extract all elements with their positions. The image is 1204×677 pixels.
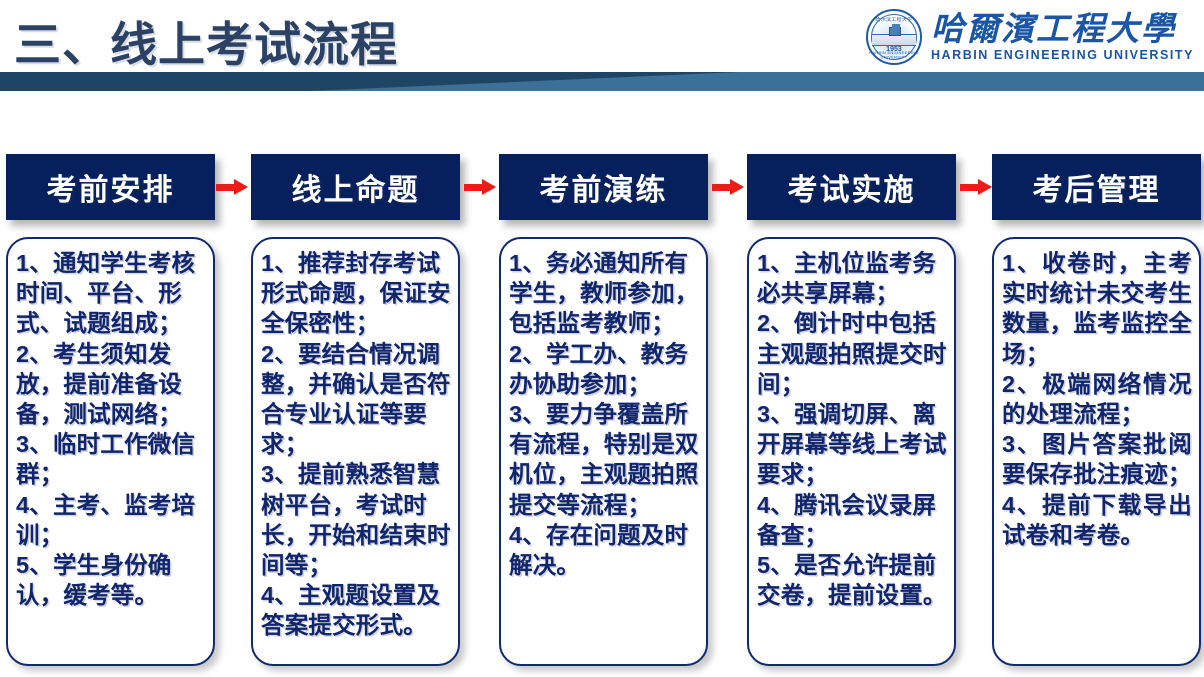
flow-step-4: 考试实施 1、主机位监考务必共享屏幕； 2、倒计时中包括主观题拍照提交时间； 3…: [747, 154, 956, 666]
flow-step-1-header[interactable]: 考前安排: [6, 154, 215, 220]
flow-step-1-header-label: 考前安排: [47, 165, 175, 209]
flow-step-1-body: 1、通知学生考核时间、平台、形式、试题组成； 2、考生须知发放，提前准备设备，测…: [6, 237, 215, 666]
flow-arrow-2-to-3: [464, 179, 496, 195]
flow-step-4-header[interactable]: 考试实施: [747, 154, 956, 220]
flow-arrow-3-to-4: [712, 179, 744, 195]
flow-step-5-body-text: 1、收卷时，主考实时统计未交考生数量，监考监控全场； 2、极端网络情况的处理流程…: [1002, 248, 1192, 550]
flow-step-5-body: 1、收卷时，主考实时统计未交考生数量，监考监控全场； 2、极端网络情况的处理流程…: [992, 237, 1201, 666]
university-name-cn: 哈爾濱工程大學: [931, 12, 1176, 47]
flow-step-3-header-label: 考前演练: [540, 165, 668, 209]
flow-step-2-body: 1、推荐封存考试形式命题，保证安全保密性； 2、要结合情况调整，并确认是否符合专…: [251, 237, 460, 666]
flow-step-2-header-label: 线上命题: [292, 165, 420, 209]
banner-wedge: [0, 72, 740, 91]
flow-step-5-header[interactable]: 考后管理: [992, 154, 1201, 220]
arrow-head: [730, 179, 744, 195]
university-logo: 哈尔滨工程大学 1953 HARBIN ENGINEERING UNIVERSI…: [866, 4, 1194, 70]
university-name-en: HARBIN ENGINEERING UNIVERSITY: [931, 48, 1194, 62]
arrow-shaft: [216, 184, 236, 191]
flow-step-5: 考后管理 1、收卷时，主考实时统计未交考生数量，监考监控全场； 2、极端网络情况…: [992, 154, 1201, 666]
flow-step-4-body-text: 1、主机位监考务必共享屏幕； 2、倒计时中包括主观题拍照提交时间； 3、强调切屏…: [757, 248, 947, 610]
flow-step-2-body-text: 1、推荐封存考试形式命题，保证安全保密性； 2、要结合情况调整，并确认是否符合专…: [261, 248, 451, 640]
arrow-shaft: [960, 184, 980, 191]
process-flow: 考前安排 1、通知学生考核时间、平台、形式、试题组成； 2、考生须知发放，提前准…: [0, 154, 1204, 666]
flow-arrow-4-to-5: [960, 179, 992, 195]
flow-step-4-header-label: 考试实施: [788, 165, 916, 209]
flow-step-3: 考前演练 1、务必通知所有学生，教师参加，包括监考教师； 2、学工办、教务办协助…: [499, 154, 708, 666]
header-banner: [0, 72, 1204, 91]
flow-arrow-1-to-2: [216, 179, 248, 195]
flow-step-5-header-label: 考后管理: [1033, 165, 1161, 209]
university-seal-icon: 哈尔滨工程大学 1953 HARBIN ENGINEERING UNIVERSI…: [866, 9, 922, 65]
flow-step-1-body-text: 1、通知学生考核时间、平台、形式、试题组成； 2、考生须知发放，提前准备设备，测…: [16, 248, 206, 610]
arrow-head: [234, 179, 248, 195]
flow-step-1: 考前安排 1、通知学生考核时间、平台、形式、试题组成； 2、考生须知发放，提前准…: [6, 154, 215, 666]
seal-top-text: 哈尔滨工程大学: [866, 16, 922, 22]
flow-step-2-header[interactable]: 线上命题: [251, 154, 460, 220]
flow-step-3-body: 1、务必通知所有学生，教师参加，包括监考教师； 2、学工办、教务办协助参加； 3…: [499, 237, 708, 666]
seal-bottom-text: HARBIN ENGINEERING UNIVERSITY: [866, 51, 922, 60]
flow-step-3-header[interactable]: 考前演练: [499, 154, 708, 220]
arrow-head: [978, 179, 992, 195]
arrow-shaft: [712, 184, 732, 191]
seal-ship-icon: [889, 27, 901, 36]
arrow-shaft: [464, 184, 484, 191]
university-wordmark: 哈爾濱工程大學 HARBIN ENGINEERING UNIVERSITY: [931, 12, 1194, 63]
flow-step-4-body: 1、主机位监考务必共享屏幕； 2、倒计时中包括主观题拍照提交时间； 3、强调切屏…: [747, 237, 956, 666]
flow-step-2: 线上命题 1、推荐封存考试形式命题，保证安全保密性； 2、要结合情况调整，并确认…: [251, 154, 460, 666]
page-title: 三、线上考试流程: [14, 6, 398, 75]
arrow-head: [482, 179, 496, 195]
flow-step-3-body-text: 1、务必通知所有学生，教师参加，包括监考教师； 2、学工办、教务办协助参加； 3…: [509, 248, 699, 580]
slide-root: 三、线上考试流程 哈尔滨工程大学 1953 HARBIN ENGINEERING…: [0, 0, 1204, 677]
